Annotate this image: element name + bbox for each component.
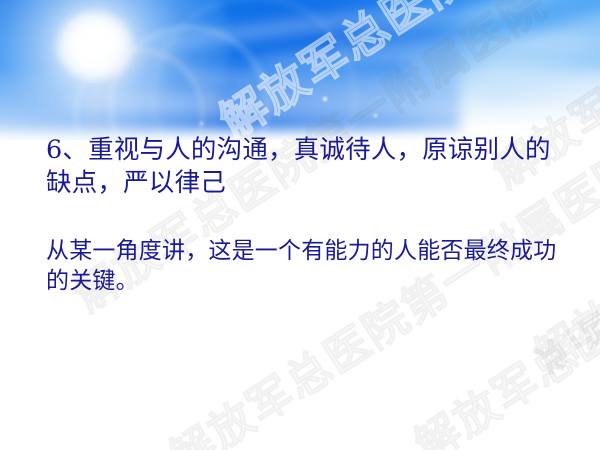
slide-canvas: 解放军总医院第一附属医院 解放军总医院第一附属医院 解放军总医院第一附属医院 解… bbox=[0, 0, 600, 450]
slide-headline: 6、重视与人的沟通，真诚待人，原谅别人的缺点，严以律己 bbox=[46, 134, 570, 200]
slide-content: 6、重视与人的沟通，真诚待人，原谅别人的缺点，严以律己 从某一角度讲，这是一个有… bbox=[0, 0, 600, 450]
slide-body-text: 从某一角度讲，这是一个有能力的人能否最终成功的关键。 bbox=[46, 236, 562, 296]
